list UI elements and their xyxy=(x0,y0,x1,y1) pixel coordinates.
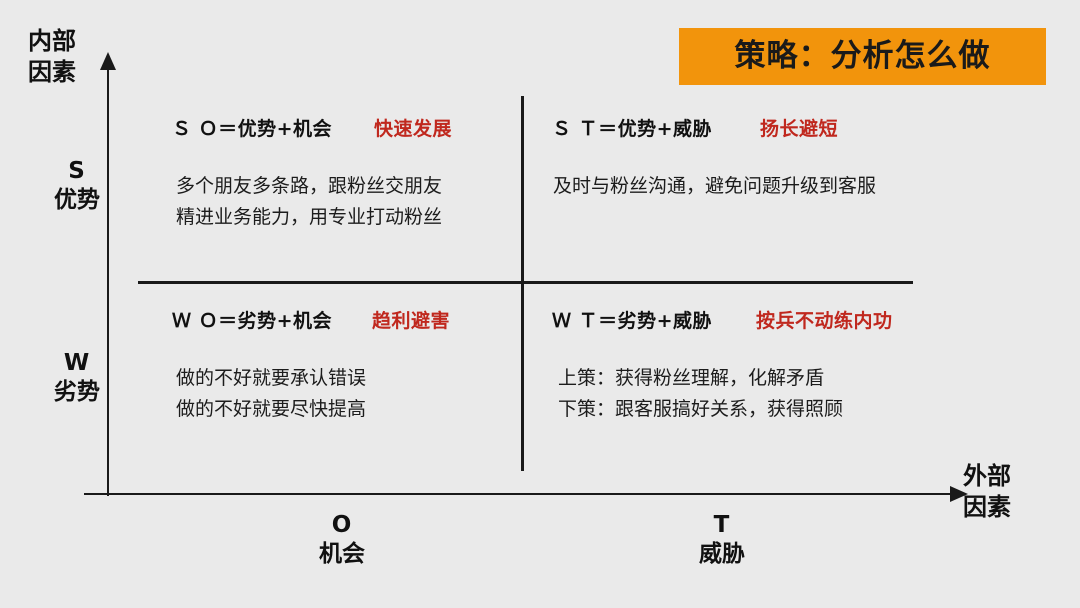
quadrant-divider-horizontal xyxy=(138,281,913,284)
quadrant-wo-line-2: 做的不好就要尽快提高 xyxy=(176,394,450,425)
internal-factors-caption: 内部 因素 xyxy=(28,26,76,87)
title-banner: 策略：分析怎么做 xyxy=(679,28,1046,85)
internal-factors-line2: 因素 xyxy=(28,57,76,88)
axis-label-opportunities-letter: O xyxy=(296,511,388,540)
external-factors-line1: 外部 xyxy=(963,461,1011,492)
title-text: 策略：分析怎么做 xyxy=(735,41,991,72)
horizontal-axis-line xyxy=(84,493,955,495)
axis-label-threats: T 威胁 xyxy=(676,511,768,570)
quadrant-so: Ｓ Ｏ＝优势+机会 快速发展 多个朋友多条路，跟粉丝交朋友 精进业务能力，用专业… xyxy=(172,114,452,233)
quadrant-st-heading: Ｓ Ｔ＝优势+威胁 扬长避短 xyxy=(552,114,876,141)
quadrant-st-line-1: 及时与粉丝沟通，避免问题升级到客服 xyxy=(553,171,876,202)
internal-factors-line1: 内部 xyxy=(28,26,76,57)
axis-label-weaknesses-letter: W xyxy=(42,349,112,378)
quadrant-wt-line-2: 下策：跟客服搞好关系，获得照顾 xyxy=(558,394,893,425)
quadrant-wt-line-1: 上策：获得粉丝理解，化解矛盾 xyxy=(558,363,893,394)
quadrant-st-tag: 扬长避短 xyxy=(760,114,838,141)
quadrant-wo-line-1: 做的不好就要承认错误 xyxy=(176,363,450,394)
vertical-axis-arrow-icon xyxy=(100,52,116,70)
axis-label-opportunities: O 机会 xyxy=(296,511,388,570)
axis-label-strengths: S 优势 xyxy=(42,157,112,216)
quadrant-st: Ｓ Ｔ＝优势+威胁 扬长避短 及时与粉丝沟通，避免问题升级到客服 xyxy=(552,114,876,202)
external-factors-caption: 外部 因素 xyxy=(963,461,1011,522)
quadrant-wo-code: Ｗ Ｏ＝劣势+机会 xyxy=(172,306,332,333)
quadrant-wo-tag: 趋利避害 xyxy=(372,306,450,333)
quadrant-so-heading: Ｓ Ｏ＝优势+机会 快速发展 xyxy=(172,114,452,141)
axis-label-weaknesses: W 劣势 xyxy=(42,349,112,408)
axis-label-weaknesses-text: 劣势 xyxy=(42,378,112,407)
external-factors-line2: 因素 xyxy=(963,492,1011,523)
axis-label-threats-text: 威胁 xyxy=(676,540,768,569)
quadrant-wt-tag: 按兵不动练内功 xyxy=(756,306,893,333)
axis-label-opportunities-text: 机会 xyxy=(296,540,388,569)
quadrant-wt-code: Ｗ Ｔ＝劣势+威胁 xyxy=(552,306,712,333)
quadrant-so-tag: 快速发展 xyxy=(374,114,452,141)
quadrant-st-body: 及时与粉丝沟通，避免问题升级到客服 xyxy=(553,171,876,202)
quadrant-wt: Ｗ Ｔ＝劣势+威胁 按兵不动练内功 上策：获得粉丝理解，化解矛盾 下策：跟客服搞… xyxy=(552,306,893,425)
swot-matrix-canvas: 策略：分析怎么做 内部 因素 外部 因素 S 优势 W 劣势 O 机会 T 威胁… xyxy=(0,0,1080,608)
quadrant-so-line-1: 多个朋友多条路，跟粉丝交朋友 xyxy=(176,171,452,202)
quadrant-so-code: Ｓ Ｏ＝优势+机会 xyxy=(172,114,332,141)
axis-label-strengths-text: 优势 xyxy=(42,186,112,215)
quadrant-so-body: 多个朋友多条路，跟粉丝交朋友 精进业务能力，用专业打动粉丝 xyxy=(176,171,452,233)
vertical-axis-line xyxy=(107,67,109,496)
quadrant-wt-heading: Ｗ Ｔ＝劣势+威胁 按兵不动练内功 xyxy=(552,306,893,333)
quadrant-wo: Ｗ Ｏ＝劣势+机会 趋利避害 做的不好就要承认错误 做的不好就要尽快提高 xyxy=(172,306,450,425)
quadrant-so-line-2: 精进业务能力，用专业打动粉丝 xyxy=(176,202,452,233)
quadrant-wt-body: 上策：获得粉丝理解，化解矛盾 下策：跟客服搞好关系，获得照顾 xyxy=(558,363,893,425)
quadrant-wo-heading: Ｗ Ｏ＝劣势+机会 趋利避害 xyxy=(172,306,450,333)
axis-label-strengths-letter: S xyxy=(42,157,112,186)
quadrant-wo-body: 做的不好就要承认错误 做的不好就要尽快提高 xyxy=(176,363,450,425)
quadrant-st-code: Ｓ Ｔ＝优势+威胁 xyxy=(552,114,712,141)
axis-label-threats-letter: T xyxy=(676,511,768,540)
